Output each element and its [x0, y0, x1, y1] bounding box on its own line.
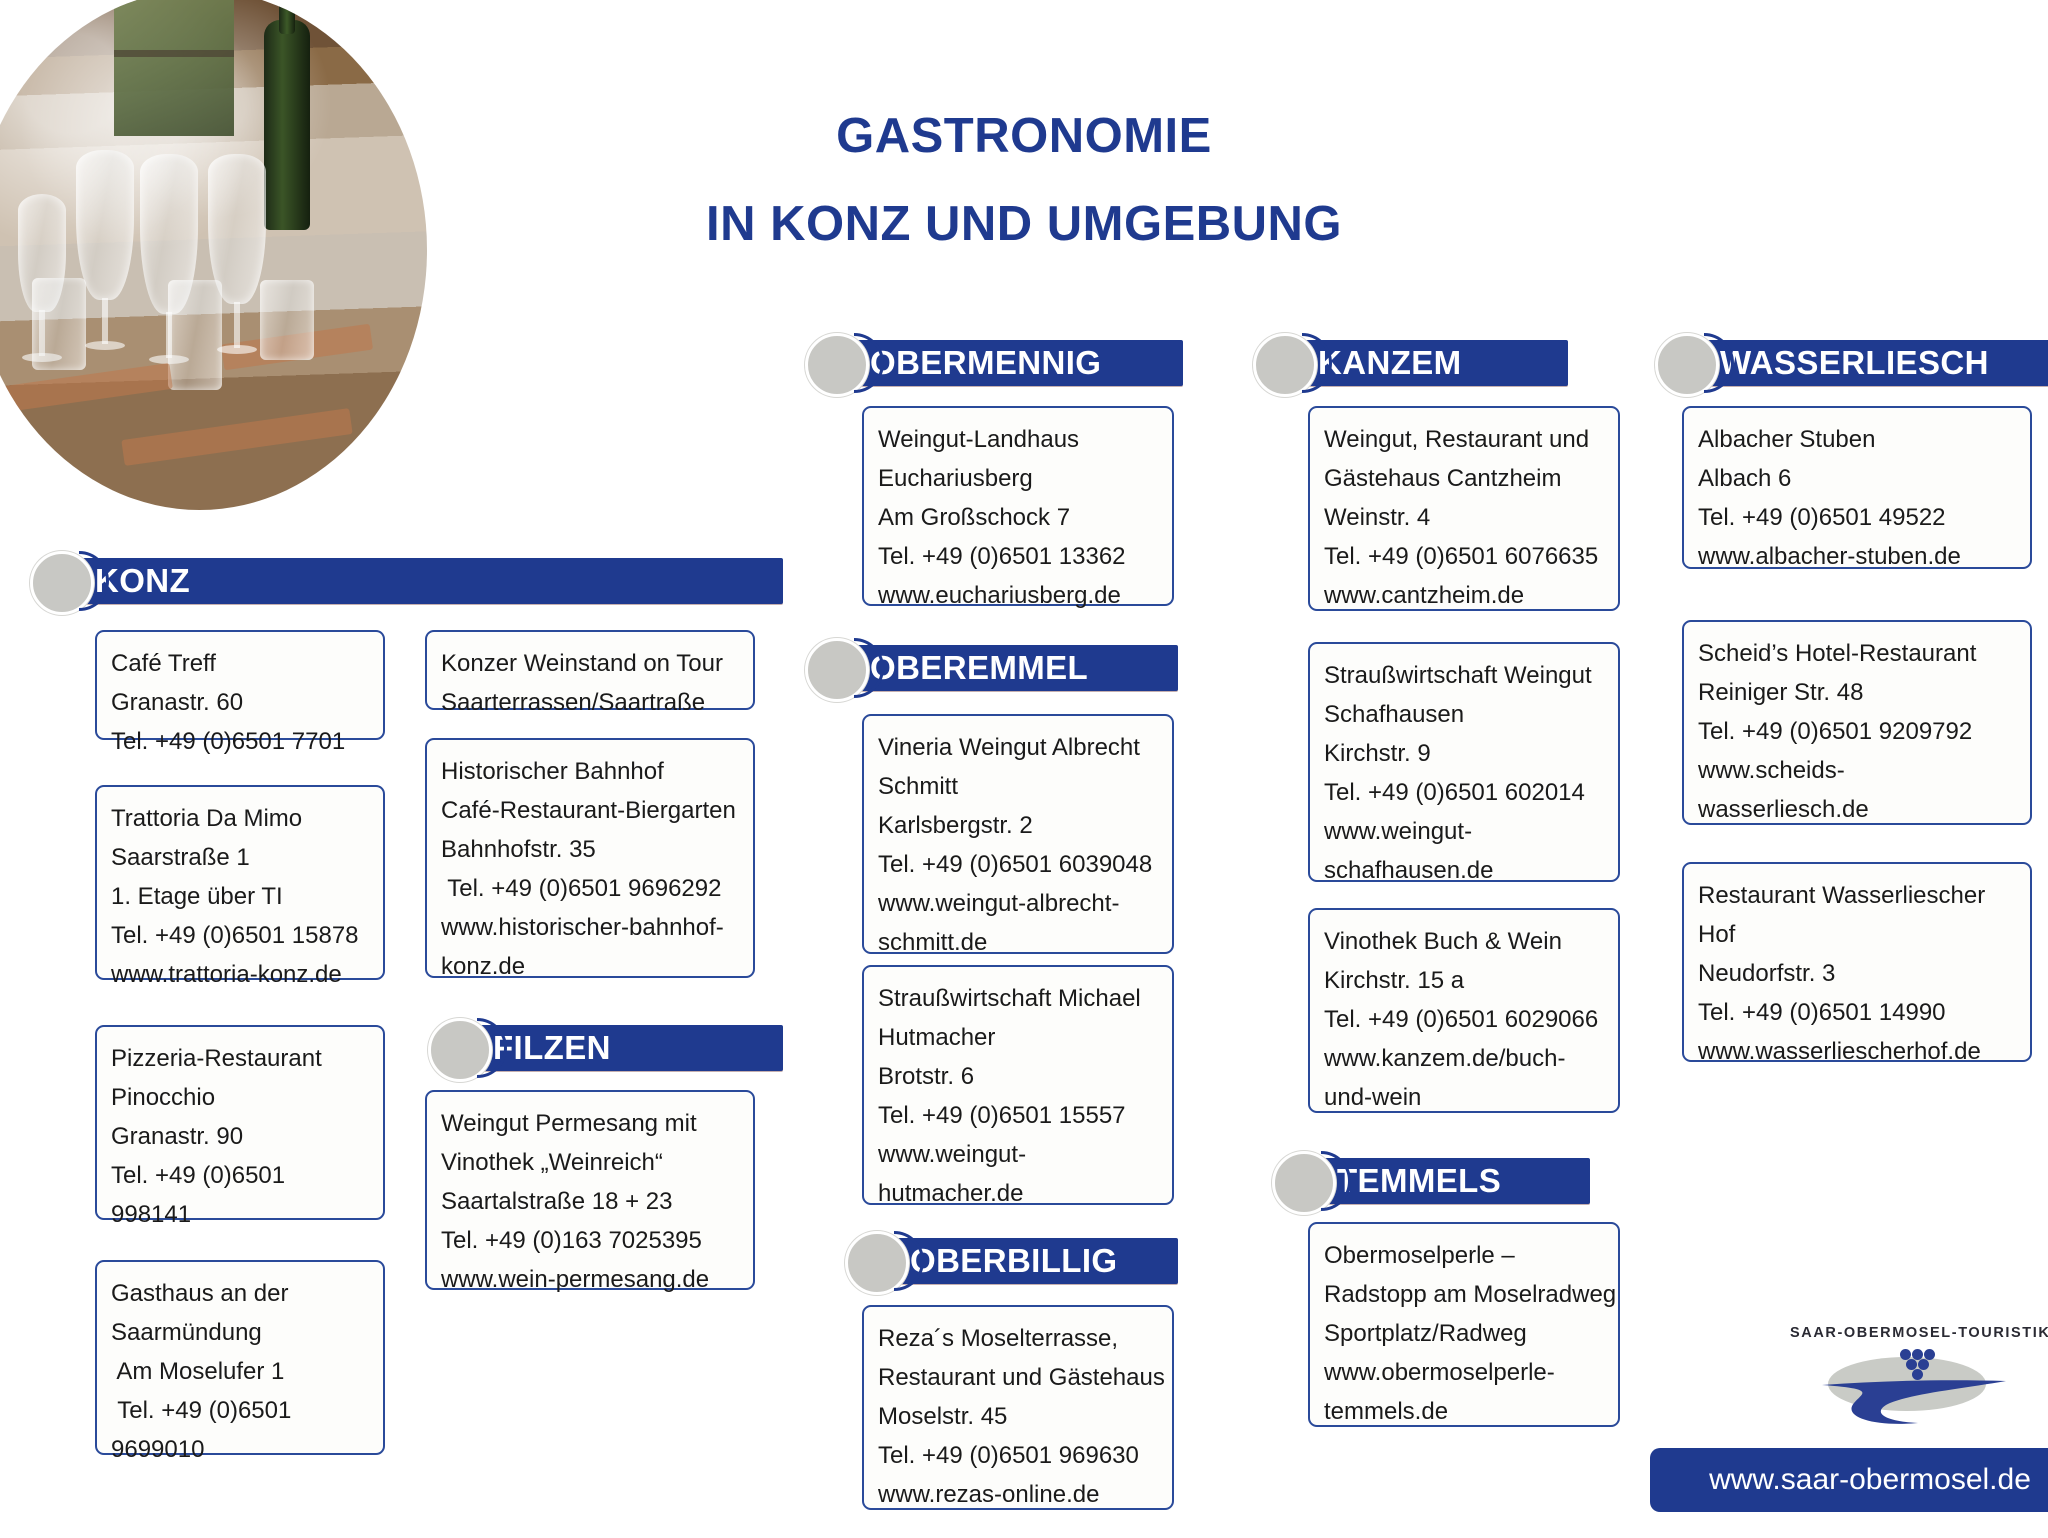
- listing-text: Albacher Stuben Albach 6 Tel. +49 (0)650…: [1698, 420, 2016, 576]
- section-title-filzen: FILZEN: [461, 1025, 783, 1071]
- listing-card[interactable]: Café Treff Granastr. 60 Tel. +49 (0)6501…: [95, 630, 385, 740]
- listing-text: Weingut-Landhaus Euchariusberg Am Großsc…: [878, 420, 1158, 615]
- listing-card[interactable]: Scheid’s Hotel-Restaurant Reiniger Str. …: [1682, 620, 2032, 825]
- bullet-circle-icon: [30, 551, 94, 615]
- placemat: [0, 363, 173, 415]
- section-title-konz: KONZ: [63, 558, 783, 604]
- listing-card[interactable]: Straußwirtschaft Weingut Schafhausen Kir…: [1308, 642, 1620, 882]
- listing-text: Weingut Permesang mit Vinothek „Weinreic…: [441, 1104, 739, 1299]
- section-title-wasserliesch: WASSERLIESCH: [1688, 340, 2048, 386]
- bullet-circle-icon: [428, 1018, 492, 1082]
- placemat: [121, 408, 352, 466]
- organization-logo: SAAR-OBERMOSEL-TOURISTIK E.V.: [1790, 1325, 2030, 1419]
- page-title-line2: IN KONZ UND UMGEBUNG: [0, 196, 2048, 252]
- listing-text: Konzer Weinstand on Tour Saarterrassen/S…: [441, 644, 739, 722]
- water-tumbler: [260, 280, 314, 360]
- bullet-circle-icon: [1272, 1151, 1336, 1215]
- window-frame-bar: [114, 50, 234, 57]
- listing-card[interactable]: Pizzeria-Restaurant Pinocchio Granastr. …: [95, 1025, 385, 1220]
- bullet-circle-icon: [805, 333, 869, 397]
- brochure-page: GASTRONOMIE IN KONZ UND UMGEBUNG KONZ Ca…: [0, 0, 2048, 1538]
- footer-url: www.saar-obermosel.de: [1709, 1463, 2031, 1497]
- listing-text: Pizzeria-Restaurant Pinocchio Granastr. …: [111, 1039, 369, 1234]
- footer-url-bar[interactable]: www.saar-obermosel.de: [1650, 1448, 2048, 1512]
- listing-text: Obermoselperle – Radstopp am Moselradweg…: [1324, 1236, 1604, 1431]
- bullet-circle-icon: [1655, 333, 1719, 397]
- page-title-line1: GASTRONOMIE: [0, 108, 2048, 164]
- listing-text: Reza´s Moselterrasse, Restaurant und Gäs…: [878, 1319, 1158, 1514]
- listing-card[interactable]: Obermoselperle – Radstopp am Moselradweg…: [1308, 1222, 1620, 1427]
- river-grapes-icon: [1790, 1345, 2030, 1419]
- listing-card[interactable]: Restaurant Wasserliescher Hof Neudorfstr…: [1682, 862, 2032, 1062]
- listing-card[interactable]: Albacher Stuben Albach 6 Tel. +49 (0)650…: [1682, 406, 2032, 569]
- listing-text: Café Treff Granastr. 60 Tel. +49 (0)6501…: [111, 644, 369, 761]
- listing-text: Gasthaus an der Saarmündung Am Moselufer…: [111, 1274, 369, 1469]
- listing-card[interactable]: Trattoria Da Mimo Saarstraße 1 1. Etage …: [95, 785, 385, 980]
- water-tumbler: [168, 280, 222, 390]
- listing-card[interactable]: Vineria Weingut Albrecht Schmitt Karlsbe…: [862, 714, 1174, 954]
- listing-card[interactable]: Weingut, Restaurant und Gästehaus Cantzh…: [1308, 406, 1620, 611]
- listing-text: Restaurant Wasserliescher Hof Neudorfstr…: [1698, 876, 2016, 1071]
- listing-card[interactable]: Weingut-Landhaus Euchariusberg Am Großsc…: [862, 406, 1174, 606]
- listing-text: Weingut, Restaurant und Gästehaus Cantzh…: [1324, 420, 1604, 615]
- listing-text: Scheid’s Hotel-Restaurant Reiniger Str. …: [1698, 634, 2016, 829]
- listing-text: Trattoria Da Mimo Saarstraße 1 1. Etage …: [111, 799, 369, 994]
- river-swoosh-icon: [1820, 1373, 2010, 1429]
- listing-text: Historischer Bahnhof Café-Restaurant-Bie…: [441, 752, 739, 986]
- bullet-circle-icon: [805, 638, 869, 702]
- bullet-circle-icon: [1253, 333, 1317, 397]
- section-title-oberemmel: OBEREMMEL: [838, 645, 1178, 691]
- listing-text: Straußwirtschaft Michael Hutmacher Brots…: [878, 979, 1158, 1213]
- listing-card[interactable]: Gasthaus an der Saarmündung Am Moselufer…: [95, 1260, 385, 1455]
- listing-text: Straußwirtschaft Weingut Schafhausen Kir…: [1324, 656, 1604, 890]
- water-tumbler: [32, 278, 86, 370]
- listing-text: Vineria Weingut Albrecht Schmitt Karlsbe…: [878, 728, 1158, 962]
- listing-card[interactable]: Konzer Weinstand on Tour Saarterrassen/S…: [425, 630, 755, 710]
- listing-card[interactable]: Straußwirtschaft Michael Hutmacher Brots…: [862, 965, 1174, 1205]
- listing-card[interactable]: Weingut Permesang mit Vinothek „Weinreic…: [425, 1090, 755, 1290]
- bullet-circle-icon: [845, 1231, 909, 1295]
- listing-text: Vinothek Buch & Wein Kirchstr. 15 a Tel.…: [1324, 922, 1604, 1117]
- wine-glasses-photo: [0, 0, 427, 510]
- listing-card[interactable]: Historischer Bahnhof Café-Restaurant-Bie…: [425, 738, 755, 978]
- listing-card[interactable]: Vinothek Buch & Wein Kirchstr. 15 a Tel.…: [1308, 908, 1620, 1113]
- section-title-obermennig: OBERMENNIG: [838, 340, 1183, 386]
- listing-card[interactable]: Reza´s Moselterrasse, Restaurant und Gäs…: [862, 1305, 1174, 1510]
- logo-wordmark: SAAR-OBERMOSEL-TOURISTIK E.V.: [1790, 1325, 2030, 1341]
